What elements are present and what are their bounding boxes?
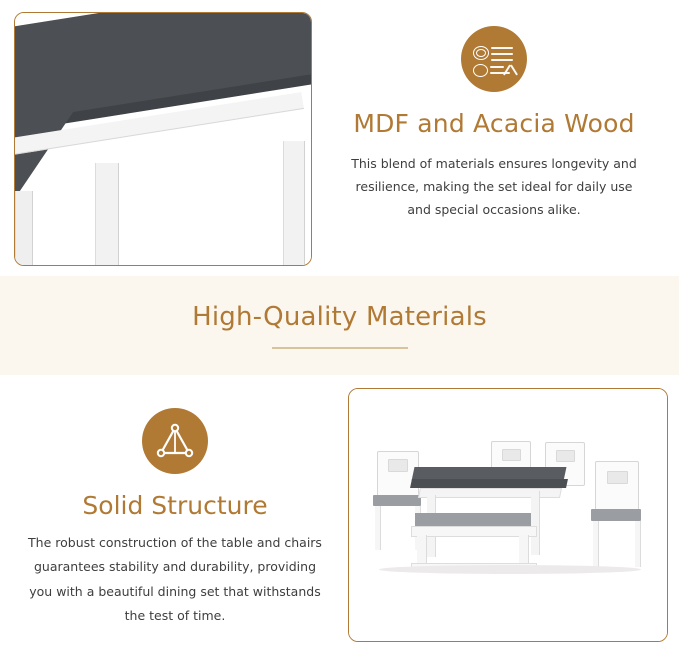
wood-grain-icon [461,26,527,92]
triangle-structure-glyph [142,408,208,474]
chair-right-front-seat [591,509,641,521]
bottom-headline: Solid Structure [10,491,340,520]
chair-back-left-leg-1 [375,506,381,550]
dining-set-photo-frame [348,388,668,642]
floor-shadow [379,565,641,574]
top-section: MDF and Acacia Wood This blend of materi… [0,0,679,276]
chair-right-front-slot [607,471,628,484]
bottom-section: Solid Structure The robust construction … [0,375,679,653]
banner-divider [272,347,408,349]
table-leg-right [283,141,305,266]
top-text-block: MDF and Acacia Wood This blend of materi… [322,26,666,221]
chair-right-front-leg-1 [593,521,599,567]
top-body-text: This blend of materials ensures longevit… [322,152,666,221]
triangle-structure-icon [142,408,208,474]
dining-table-leg-right [531,491,540,555]
chair-right-front-back [595,461,639,511]
bottom-text-block: Solid Structure The robust construction … [10,408,340,629]
bottom-body-text: The robust construction of the table and… [10,531,340,629]
bench-seat [415,513,531,526]
six-piece-dining-set-photo [349,389,667,641]
dining-table-top-edge [410,479,568,488]
dining-table-corner-photo [15,13,311,265]
product-infographic-page: MDF and Acacia Wood This blend of materi… [0,0,679,653]
chair-back-right-slot [556,450,575,462]
table-photo-frame [14,12,312,266]
dining-table-apron [418,488,562,498]
chair-back-left-seat [373,495,421,506]
chair-right-front-leg-2 [635,521,641,567]
top-headline: MDF and Acacia Wood [322,109,666,138]
chair-back-left-slot [388,459,408,472]
chair-back-middle-slot [502,449,521,461]
table-leg-left [15,191,33,266]
table-leg-front [95,163,119,266]
section-banner: High-Quality Materials [0,276,679,375]
banner-title: High-Quality Materials [192,302,487,332]
